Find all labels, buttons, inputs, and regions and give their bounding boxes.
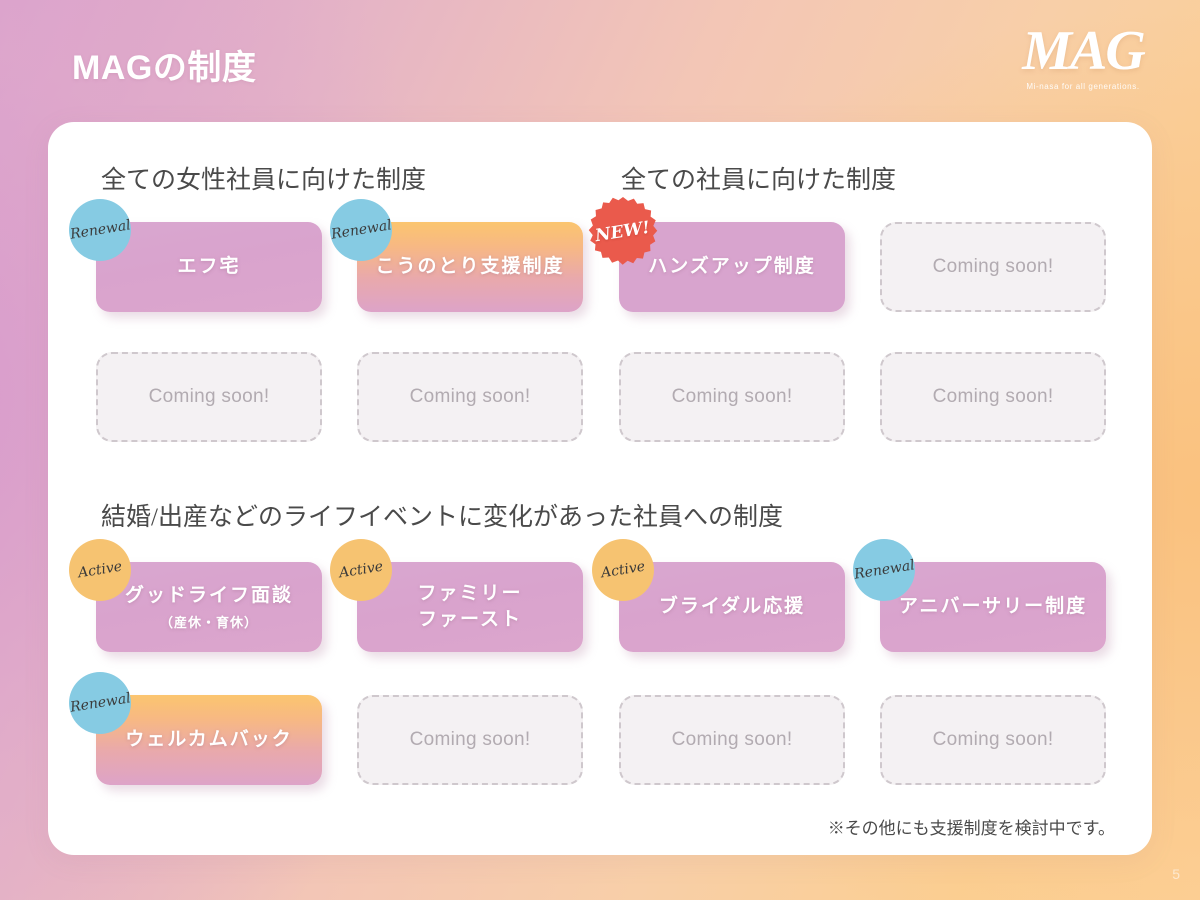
footnote: ※その他にも支援制度を検討中です。 xyxy=(828,814,1115,839)
slide-canvas: MAGの制度 MAG Mi-nasa for all generations. … xyxy=(0,0,1200,900)
card-title: Coming soon! xyxy=(933,384,1054,410)
badge-active-icon: Active xyxy=(330,539,392,601)
section-heading-women: 全ての女性社員に向けた制度 xyxy=(101,160,426,196)
card-subtitle: （産休・育休） xyxy=(160,612,258,631)
badge-renewal-icon: Renewal xyxy=(853,539,915,601)
page-title: MAGの制度 xyxy=(72,40,256,89)
card-coming-soon[interactable]: Coming soon! xyxy=(880,222,1106,312)
badge-active-icon: Active xyxy=(69,539,131,601)
card-title: Coming soon! xyxy=(672,727,793,753)
badge-renewal-icon: Renewal xyxy=(69,199,131,261)
card-title: ハンズアップ制度 xyxy=(648,254,816,280)
badge-label: Renewal xyxy=(69,690,132,715)
badge-label: Renewal xyxy=(330,217,393,242)
badge-label: Renewal xyxy=(69,217,132,242)
card-title: こうのとり支援制度 xyxy=(375,254,564,280)
badge-label: Active xyxy=(77,559,123,582)
badge-active-icon: Active xyxy=(592,539,654,601)
card-title: Coming soon! xyxy=(410,384,531,410)
card-coming-soon[interactable]: Coming soon! xyxy=(619,695,845,785)
logo-tagline: Mi-nasa for all generations. xyxy=(998,82,1168,91)
card-coming-soon[interactable]: Coming soon! xyxy=(96,352,322,442)
card-title: ウェルカムバック xyxy=(125,727,292,753)
card-title: ブライダル応援 xyxy=(659,594,805,620)
section-heading-life-event: 結婚/出産などのライフイベントに変化があった社員への制度 xyxy=(101,497,783,533)
badge-label: Active xyxy=(600,559,646,582)
card-coming-soon[interactable]: Coming soon! xyxy=(880,352,1106,442)
company-logo: MAG Mi-nasa for all generations. xyxy=(998,22,1168,102)
card-title: グッドライフ面談 xyxy=(125,583,293,609)
card-title: Coming soon! xyxy=(672,384,793,410)
card-coming-soon[interactable]: Coming soon! xyxy=(619,352,845,442)
card-coming-soon[interactable]: Coming soon! xyxy=(880,695,1106,785)
page-number: 5 xyxy=(1172,866,1180,882)
logo-wordmark: MAG xyxy=(998,22,1168,80)
badge-renewal-icon: Renewal xyxy=(330,199,392,261)
badge-new-icon: NEW! xyxy=(588,197,658,267)
card-title: ファミリーファースト xyxy=(417,581,522,633)
card-title: アニバーサリー制度 xyxy=(899,594,1087,620)
badge-label: Active xyxy=(338,559,384,582)
card-coming-soon[interactable]: Coming soon! xyxy=(357,352,583,442)
card-title: エフ宅 xyxy=(177,254,240,280)
badge-renewal-icon: Renewal xyxy=(69,672,131,734)
card-coming-soon[interactable]: Coming soon! xyxy=(357,695,583,785)
card-title: Coming soon! xyxy=(149,384,270,410)
section-heading-all-employees: 全ての社員に向けた制度 xyxy=(621,160,896,196)
card-title: Coming soon! xyxy=(410,727,531,753)
card-title: Coming soon! xyxy=(933,727,1054,753)
card-title: Coming soon! xyxy=(933,254,1054,280)
badge-label: Renewal xyxy=(853,557,916,582)
